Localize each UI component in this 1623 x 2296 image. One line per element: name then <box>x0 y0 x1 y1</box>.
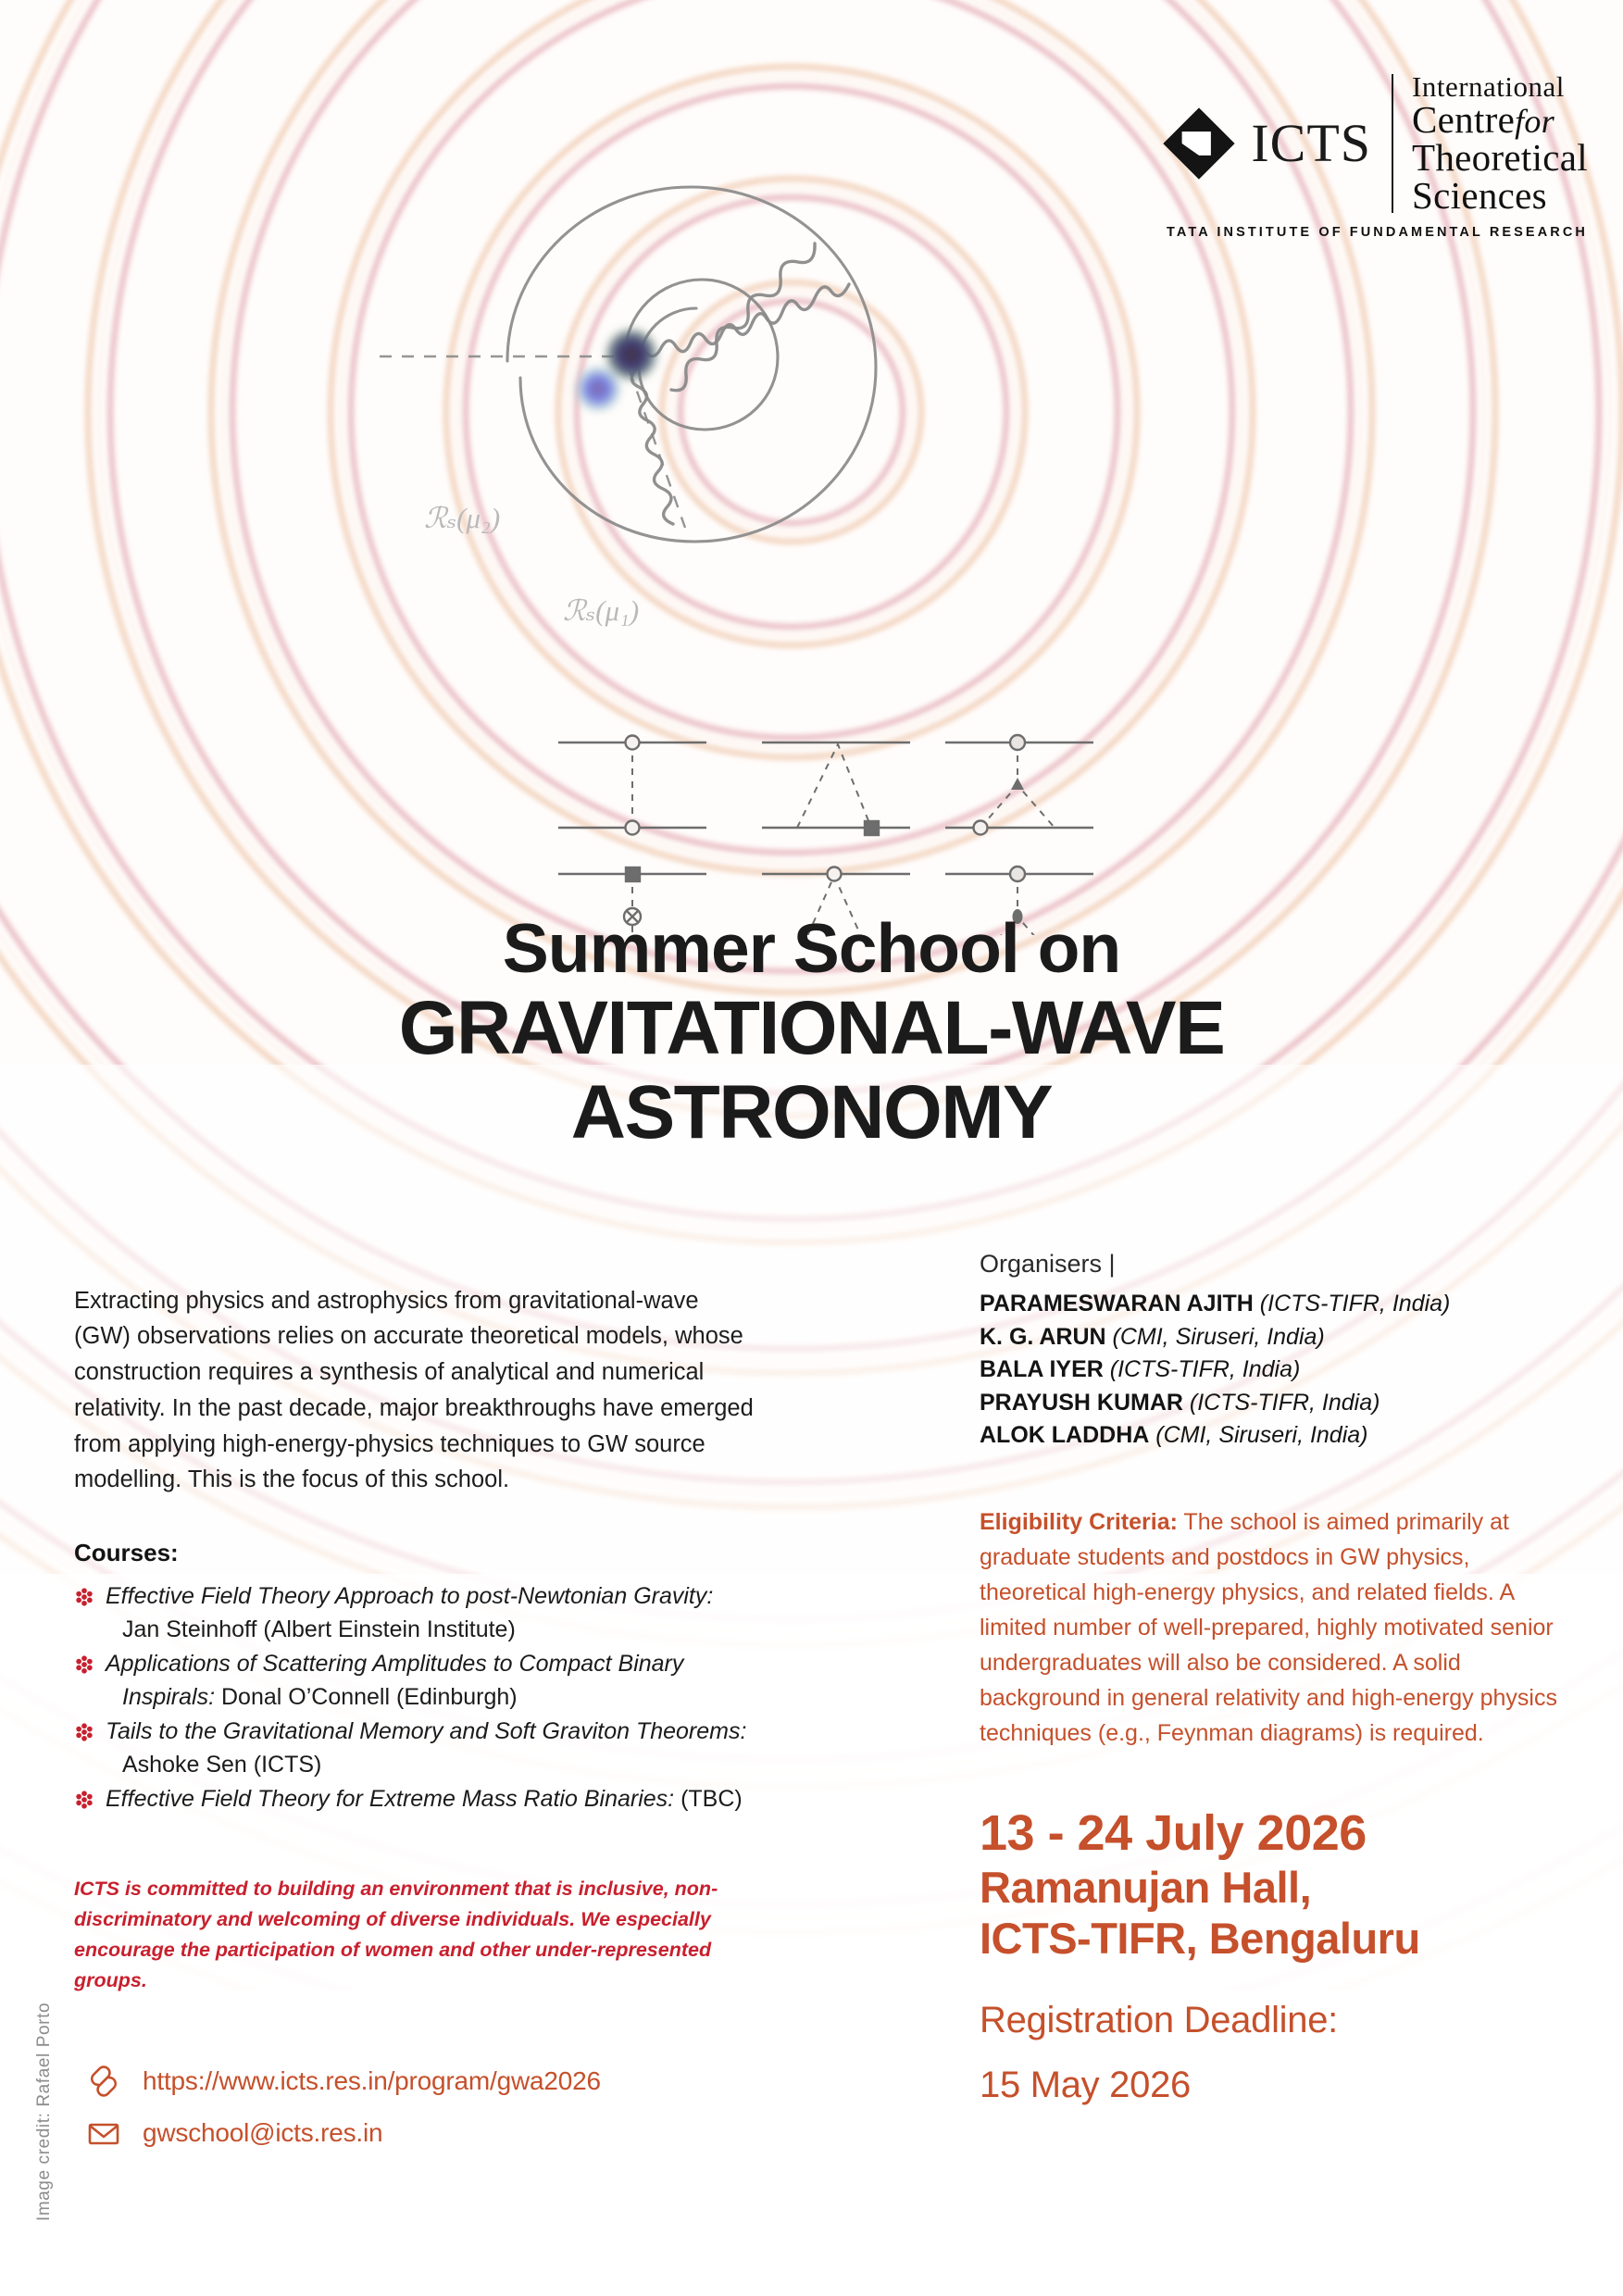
intro-paragraph: Extracting physics and astrophysics from… <box>74 1283 759 1499</box>
image-credit: Image credit: Rafael Porto <box>34 1991 55 2232</box>
venue-line-2: ICTS-TIFR, Bengaluru <box>980 1914 1572 1965</box>
course-lecturer: (TBC) <box>680 1786 743 1812</box>
logo-divider <box>1392 74 1393 213</box>
asterisk-icon <box>74 1652 94 1674</box>
logo-word-for: for <box>1515 103 1554 140</box>
left-column: Extracting physics and astrophysics from… <box>74 1259 759 2016</box>
venue-line-1: Ramanujan Hall, <box>980 1863 1572 1914</box>
label-rs-mu2: ℛₛ(μ₂) <box>424 502 500 534</box>
title-line-1: Summer School on <box>0 912 1623 986</box>
organiser-item: PARAMESWARAN AJITH (ICTS-TIFR, India) <box>980 1288 1572 1321</box>
logo-line-international: International <box>1412 72 1588 101</box>
feynman-diagram-grid <box>532 694 1106 935</box>
label-rs-mu1: ℛₛ(μ₁) <box>563 594 639 627</box>
organiser-affiliation: (ICTS-TIFR, India) <box>1190 1390 1380 1416</box>
logo-line-theoretical: Theoretical <box>1412 139 1588 177</box>
course-item: Effective Field Theory for Extreme Mass … <box>74 1783 759 1816</box>
website-url[interactable]: https://www.icts.res.in/program/gwa2026 <box>143 2066 601 2096</box>
link-icon <box>85 2063 122 2100</box>
inclusivity-statement: ICTS is committed to building an environ… <box>74 1874 759 1997</box>
title-line-2: GRAVITATIONAL-WAVE <box>0 986 1623 1071</box>
organisers-list: PARAMESWARAN AJITH (ICTS-TIFR, India) K.… <box>980 1288 1572 1453</box>
logo-line-centre-for: Centrefor <box>1412 101 1588 139</box>
eligibility-text: The school is aimed primarily at graduat… <box>980 1509 1557 1746</box>
secondary-black-hole <box>576 367 620 411</box>
organisers-heading: Organisers | <box>980 1250 1572 1279</box>
registration-deadline-date: 15 May 2026 <box>980 2061 1572 2109</box>
icts-logo: ICTS International Centrefor Theoretical… <box>1156 72 1588 240</box>
page-title: Summer School on GRAVITATIONAL-WAVE ASTR… <box>0 912 1623 1155</box>
course-lecturer: Jan Steinhoff (Albert Einstein Institute… <box>106 1614 759 1647</box>
course-item: Applications of Scattering Amplitudes to… <box>74 1648 759 1714</box>
website-row[interactable]: https://www.icts.res.in/program/gwa2026 <box>85 2063 733 2100</box>
contact-block: https://www.icts.res.in/program/gwa2026 … <box>85 2063 733 2166</box>
organiser-affiliation: (CMI, Siruseri, India) <box>1113 1324 1325 1350</box>
organiser-item: PRAYUSH KUMAR (ICTS-TIFR, India) <box>980 1387 1572 1420</box>
right-column: Organisers | PARAMESWARAN AJITH (ICTS-TI… <box>980 1250 1572 2109</box>
asterisk-icon <box>74 1787 94 1809</box>
eligibility-criteria: Eligibility Criteria: The school is aime… <box>980 1504 1572 1751</box>
courses-list: Effective Field Theory Approach to post-… <box>74 1580 759 1816</box>
primary-black-hole <box>606 330 656 380</box>
logo-word-centre: Centre <box>1412 98 1515 141</box>
organiser-affiliation: (ICTS-TIFR, India) <box>1260 1291 1451 1316</box>
organiser-name: BALA IYER <box>980 1356 1104 1382</box>
email-address[interactable]: gwschool@icts.res.in <box>143 2118 382 2148</box>
icts-acronym: ICTS <box>1251 117 1392 170</box>
event-dates: 13 - 24 July 2026 <box>980 1804 1572 1863</box>
course-title: Effective Field Theory for Extreme Mass … <box>106 1786 674 1812</box>
courses-heading: Courses: <box>74 1539 759 1567</box>
binary-inspiral-illustration: ℛₛ(μ₂) ℛₛ(μ₁) <box>352 83 1074 657</box>
envelope-icon <box>85 2115 122 2152</box>
title-line-3: ASTRONOMY <box>0 1070 1623 1155</box>
organiser-name: PARAMESWARAN AJITH <box>980 1291 1254 1316</box>
course-item: Tails to the Gravitational Memory and So… <box>74 1716 759 1781</box>
poster-root: ℛₛ(μ₂) ℛₛ(μ₁) <box>0 0 1623 2296</box>
registration-deadline-label: Registration Deadline: <box>980 1996 1572 2044</box>
organiser-item: ALOK LADDHA (CMI, Siruseri, India) <box>980 1419 1572 1453</box>
asterisk-icon <box>74 1584 94 1606</box>
organiser-name: PRAYUSH KUMAR <box>980 1390 1183 1416</box>
logo-line-sciences: Sciences <box>1412 177 1588 215</box>
course-title: Applications of Scattering Amplitudes to… <box>106 1651 683 1677</box>
logo-parent-institute: TATA INSTITUTE OF FUNDAMENTAL RESEARCH <box>1167 225 1588 240</box>
course-title-continued: Inspirals: Donal O’Connell (Edinburgh) <box>106 1681 759 1715</box>
organiser-affiliation: (ICTS-TIFR, India) <box>1110 1356 1301 1382</box>
asterisk-icon <box>74 1719 94 1741</box>
organiser-name: K. G. ARUN <box>980 1324 1106 1350</box>
course-title: Effective Field Theory Approach to post-… <box>106 1583 713 1609</box>
course-lecturer: Donal O’Connell (Edinburgh) <box>221 1684 518 1710</box>
organiser-name: ALOK LADDHA <box>980 1422 1149 1448</box>
icts-logo-mark <box>1156 101 1242 186</box>
organiser-affiliation: (CMI, Siruseri, India) <box>1155 1422 1367 1448</box>
organiser-item: K. G. ARUN (CMI, Siruseri, India) <box>980 1321 1572 1354</box>
organiser-item: BALA IYER (ICTS-TIFR, India) <box>980 1354 1572 1387</box>
course-lecturer: Ashoke Sen (ICTS) <box>106 1749 759 1782</box>
eligibility-label: Eligibility Criteria: <box>980 1509 1178 1535</box>
course-title-part2: Inspirals: <box>122 1684 215 1710</box>
course-title: Tails to the Gravitational Memory and So… <box>106 1718 746 1744</box>
email-row[interactable]: gwschool@icts.res.in <box>85 2115 733 2152</box>
course-item: Effective Field Theory Approach to post-… <box>74 1580 759 1646</box>
